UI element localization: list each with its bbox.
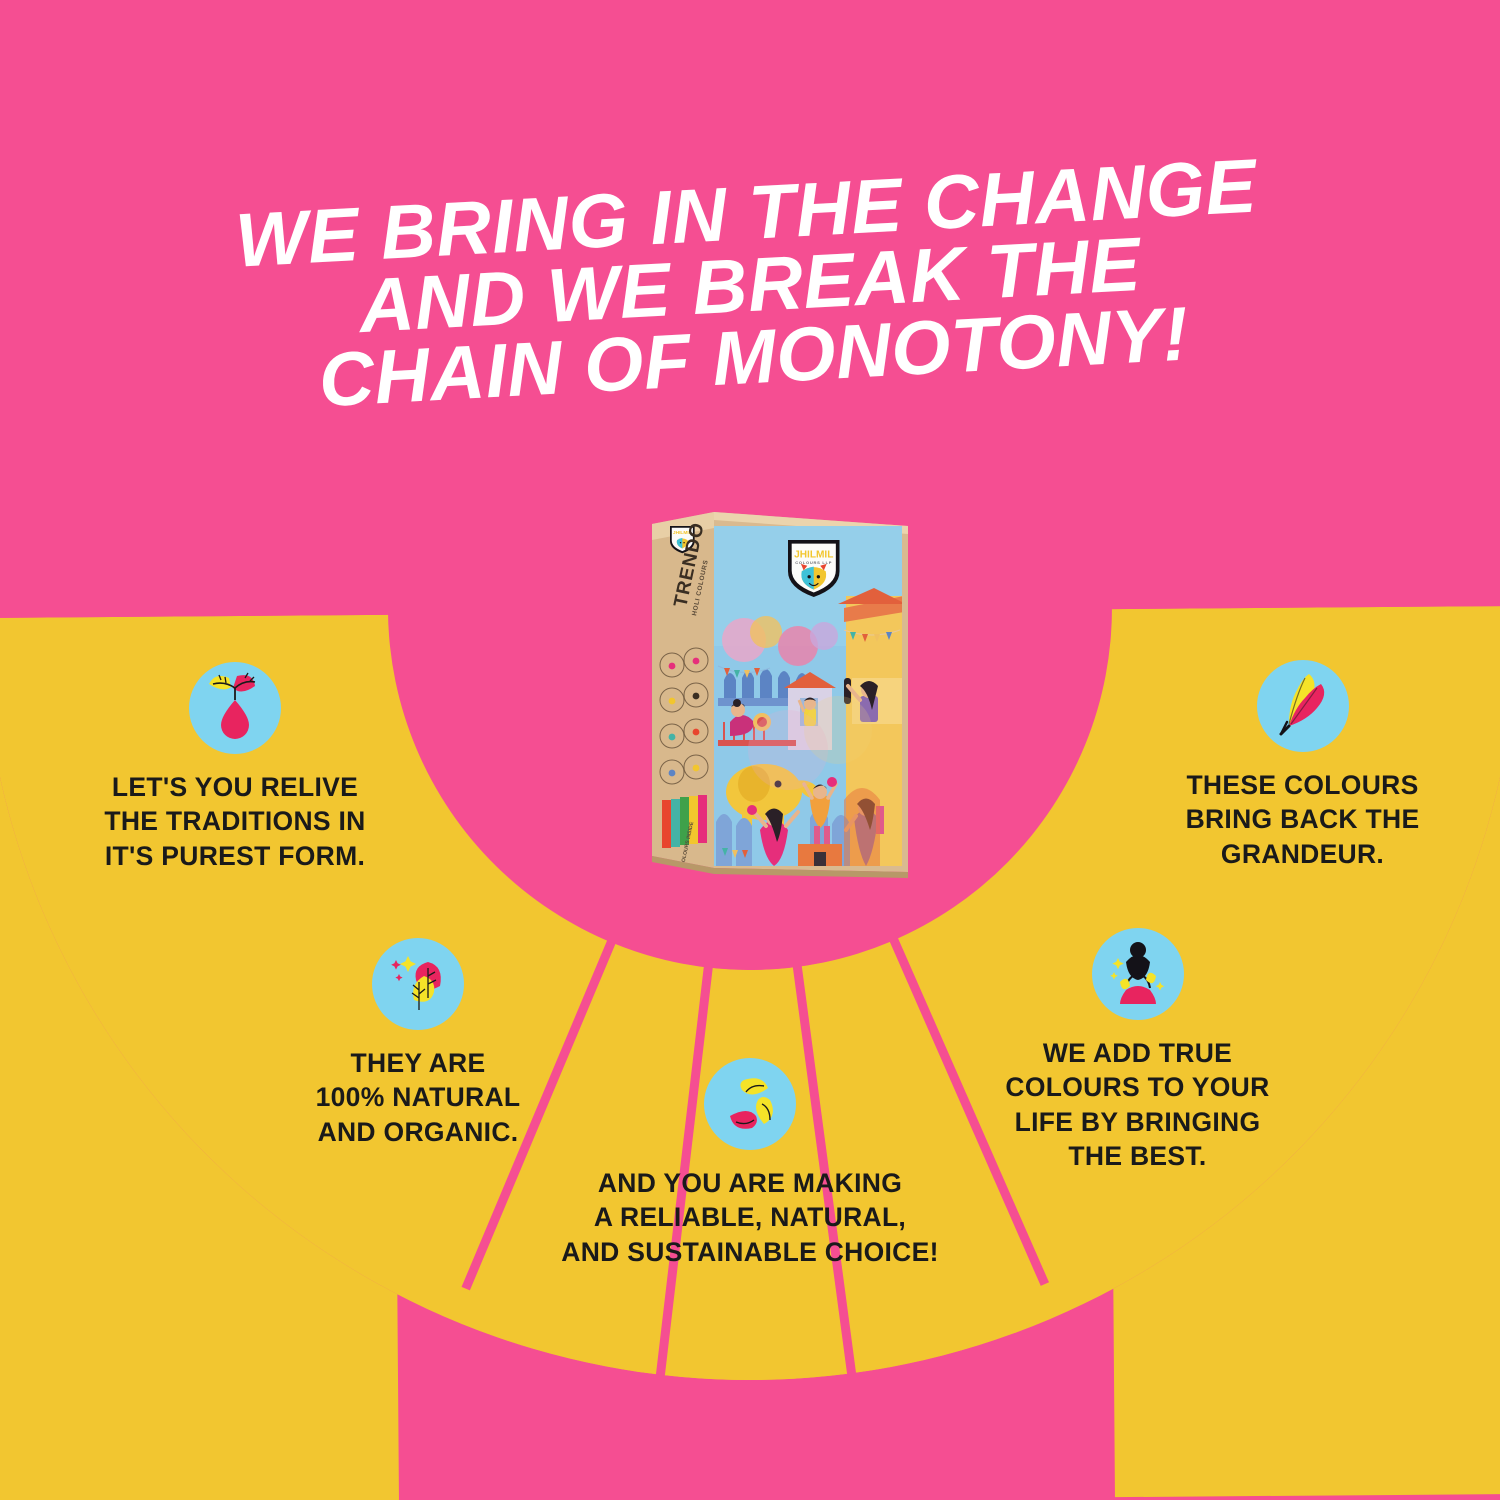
fan-segment-4[interactable]: WE ADD TRUE COLOURS TO YOUR LIFE BY BRIN… xyxy=(965,928,1310,1174)
seg3-line-1: AND YOU ARE MAKING xyxy=(540,1166,960,1200)
poster-canvas: WE BRING IN THE CHANGE AND WE BREAK THE … xyxy=(0,0,1500,1500)
recycle-leaves-icon xyxy=(704,1058,796,1150)
seg4-line-3: LIFE BY BRINGING xyxy=(965,1105,1310,1139)
seg2-line-1: THEY ARE xyxy=(258,1046,578,1080)
brand-sub-front: COLOURS LLP xyxy=(795,560,832,565)
fan-segment-1-text: LET'S YOU RELIVE THE TRADITIONS IN IT'S … xyxy=(55,770,415,873)
seg5-line-3: GRANDEUR. xyxy=(1120,837,1485,871)
seg4-line-4: THE BEST. xyxy=(965,1139,1310,1173)
seg4-line-1: WE ADD TRUE xyxy=(965,1036,1310,1070)
fan-segment-2-text: THEY ARE 100% NATURAL AND ORGANIC. xyxy=(258,1046,578,1149)
seg3-line-2: A RELIABLE, NATURAL, xyxy=(540,1200,960,1234)
fan-segment-4-text: WE ADD TRUE COLOURS TO YOUR LIFE BY BRIN… xyxy=(965,1036,1310,1174)
fan-segment-1[interactable]: LET'S YOU RELIVE THE TRADITIONS IN IT'S … xyxy=(55,662,415,873)
seg5-line-1: THESE COLOURS xyxy=(1120,768,1485,802)
sparkle-leaves-icon xyxy=(372,938,464,1030)
seg2-line-3: AND ORGANIC. xyxy=(258,1115,578,1149)
seg1-line-2: THE TRADITIONS IN xyxy=(55,804,415,838)
seg4-line-2: COLOURS TO YOUR xyxy=(965,1070,1310,1104)
fan-segment-5[interactable]: THESE COLOURS BRING BACK THE GRANDEUR. xyxy=(1120,660,1485,871)
seg1-line-3: IT'S PUREST FORM. xyxy=(55,839,415,873)
seg1-line-1: LET'S YOU RELIVE xyxy=(55,770,415,804)
fan-segment-5-text: THESE COLOURS BRING BACK THE GRANDEUR. xyxy=(1120,768,1485,871)
woman-sparkle-icon xyxy=(1092,928,1184,1020)
fan-segment-3-text: AND YOU ARE MAKING A RELIABLE, NATURAL, … xyxy=(540,1166,960,1269)
brand-name-front: JHILMIL xyxy=(794,549,833,560)
feathers-icon xyxy=(1257,660,1349,752)
leaf-droplet-icon xyxy=(189,662,281,754)
seg2-line-2: 100% NATURAL xyxy=(258,1080,578,1114)
seg5-line-2: BRING BACK THE xyxy=(1120,802,1485,836)
fan-segment-2[interactable]: THEY ARE 100% NATURAL AND ORGANIC. xyxy=(258,938,578,1149)
seg3-line-3: AND SUSTAINABLE CHOICE! xyxy=(540,1235,960,1269)
fan-segment-3[interactable]: AND YOU ARE MAKING A RELIABLE, NATURAL, … xyxy=(540,1058,960,1269)
product-box[interactable]: JHILMIL COLOURS LLP xyxy=(638,500,928,900)
